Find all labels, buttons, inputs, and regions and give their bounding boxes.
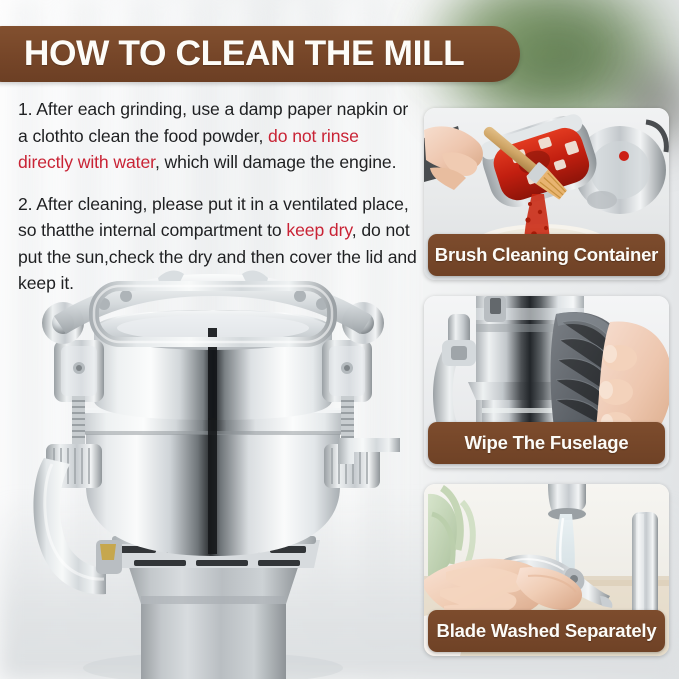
instruction-paragraph-2: 2. After cleaning, please put it in a ve… — [18, 191, 418, 297]
instruction-paragraph-1: 1. After each grinding, use a damp paper… — [18, 96, 418, 176]
card-label-bar: Brush Cleaning Container — [428, 234, 665, 276]
instructions-block: 1. After each grinding, use a damp paper… — [18, 96, 418, 297]
card-label-text: Brush Cleaning Container — [435, 244, 658, 266]
product-photo-main — [8, 268, 418, 679]
card-label-text: Wipe The Fuselage — [465, 432, 629, 454]
instruction-card-list: Brush Cleaning Container — [424, 108, 669, 656]
card-label-text: Blade Washed Separately — [437, 620, 657, 642]
step-2-warning: keep dry — [286, 220, 351, 240]
infographic-page: HOW TO CLEAN THE MILL 1. After each grin… — [0, 0, 679, 679]
page-title: HOW TO CLEAN THE MILL — [24, 34, 465, 74]
instruction-card[interactable]: Brush Cleaning Container — [424, 108, 669, 280]
instruction-card[interactable]: Blade Washed Separately — [424, 484, 669, 656]
card-label-bar: Blade Washed Separately — [428, 610, 665, 652]
title-banner: HOW TO CLEAN THE MILL — [0, 26, 520, 82]
instruction-card[interactable]: Wipe The Fuselage — [424, 296, 669, 468]
step-1-part-b: , which will damage the engine. — [155, 152, 396, 172]
card-label-bar: Wipe The Fuselage — [428, 422, 665, 464]
